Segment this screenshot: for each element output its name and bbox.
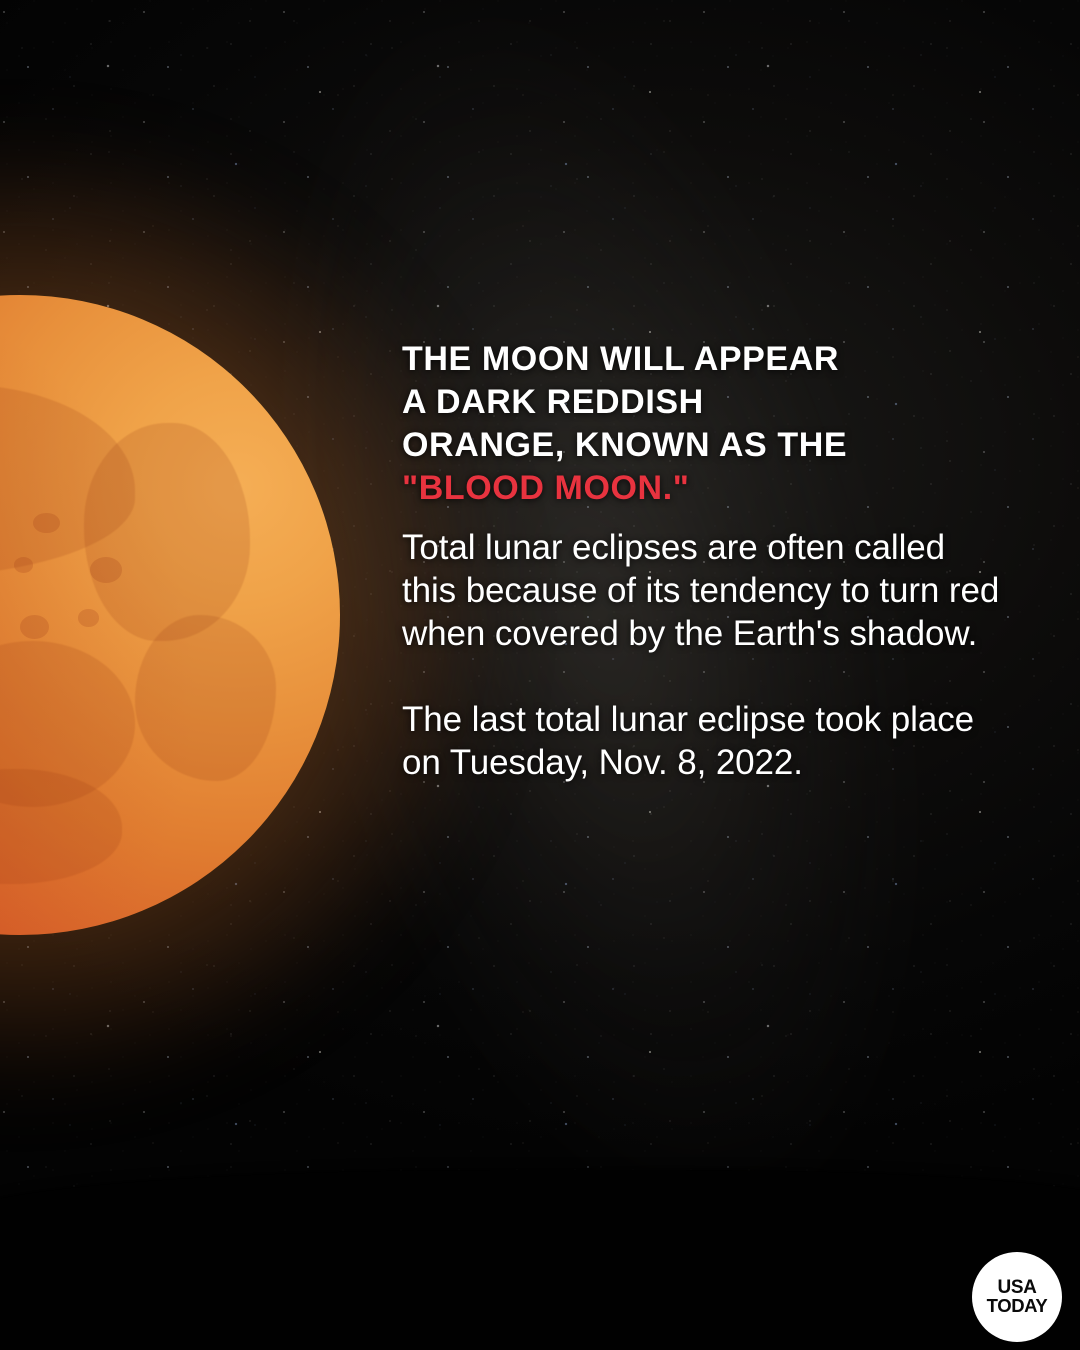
- headline-line-1: THE MOON WILL APPEAR: [402, 338, 1002, 381]
- moon-mare: [0, 385, 135, 577]
- social-graphic-poster: THE MOON WILL APPEAR A DARK REDDISH ORAN…: [0, 0, 1080, 1350]
- moon-crater: [14, 557, 33, 572]
- usa-today-logo: USA TODAY: [972, 1252, 1062, 1342]
- body-paragraph-1: Total lunar eclipses are often called th…: [402, 526, 1002, 655]
- mountain-horizon-silhouette: [0, 1170, 1080, 1350]
- headline-line-4-accent: "BLOOD MOON.": [402, 467, 1002, 510]
- logo-line-today: TODAY: [987, 1297, 1048, 1316]
- body-paragraph-2: The last total lunar eclipse took place …: [402, 698, 1002, 784]
- moon-crater: [78, 609, 100, 627]
- headline-line-3: ORANGE, KNOWN AS THE: [402, 424, 1002, 467]
- moon-mare: [135, 615, 276, 781]
- body-copy: Total lunar eclipses are often called th…: [402, 526, 1002, 784]
- moon-crater: [90, 557, 122, 583]
- headline-line-2: A DARK REDDISH: [402, 381, 1002, 424]
- moon-mare: [0, 769, 122, 884]
- moon-mare: [84, 423, 250, 641]
- copy-block: THE MOON WILL APPEAR A DARK REDDISH ORAN…: [402, 338, 1002, 784]
- moon-crater: [33, 513, 60, 533]
- moon-mare: [0, 641, 135, 807]
- headline: THE MOON WILL APPEAR A DARK REDDISH ORAN…: [402, 338, 1002, 510]
- moon-crater: [20, 615, 49, 639]
